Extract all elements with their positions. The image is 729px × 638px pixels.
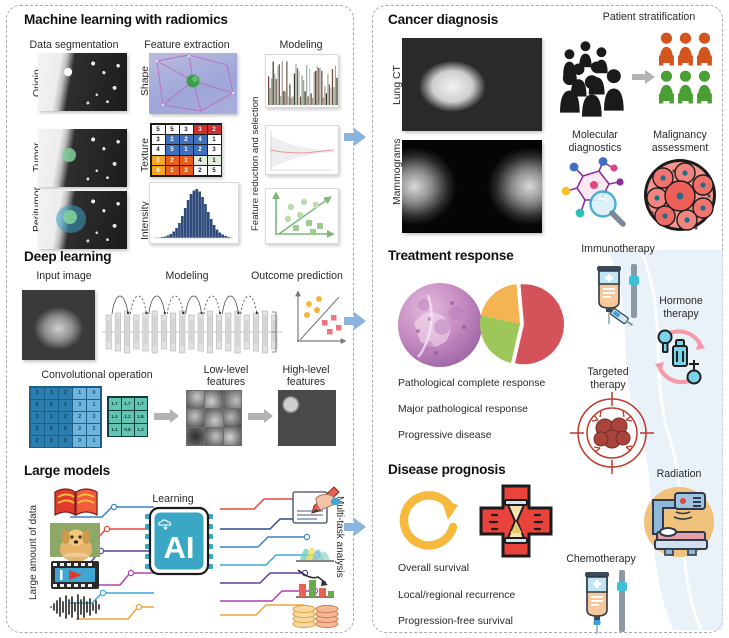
conv-kernel-cell: 1.7 — [122, 398, 134, 410]
hormone-therapy-icon — [643, 320, 717, 392]
texture-cell: 4 — [194, 156, 207, 165]
texture-cell: 4 — [194, 135, 207, 144]
conv-input-cell: 1 — [59, 400, 72, 411]
texture-cell: 3 — [180, 166, 193, 175]
segmentation-image-peritumor — [38, 191, 127, 249]
segmentation-image-origin — [38, 53, 127, 111]
conv-input-cell: 3 — [87, 412, 100, 423]
figure-canvas: Machine learning with radiomics Data seg… — [0, 0, 729, 638]
modeling-plot-feature-values — [265, 54, 339, 108]
conv-kernel-cell: 1.0 — [109, 411, 121, 423]
conv-input-cell: 0 — [45, 436, 58, 447]
conv-input-cell: 3 — [45, 388, 58, 399]
conv-kernel-cell: 1.8 — [135, 411, 147, 423]
conv-input-cell: 0 — [59, 436, 72, 447]
section-title-large-models: Large models — [24, 463, 110, 478]
texture-cell: 5 — [152, 125, 165, 134]
book-icon — [50, 484, 102, 520]
conv-input-cell: 2 — [73, 424, 86, 435]
label-hormone-therapy-line1: Hormone — [648, 295, 714, 307]
label-radiation: Radiation — [638, 468, 720, 480]
texture-cell: 2 — [166, 156, 179, 165]
chemotherapy-icon — [575, 570, 637, 636]
conv-kernel-cell: 1.1 — [109, 424, 121, 436]
label-hormone-therapy-line2: therapy — [648, 308, 714, 320]
conv-input-cell: 2 — [31, 436, 44, 447]
malignancy-assessment-icon — [641, 158, 719, 232]
patient-stratification-figure — [560, 30, 718, 120]
label-high-level-features-line1: High-level — [268, 364, 344, 376]
treatment-item-0: Pathological complete response — [398, 378, 545, 389]
label-malignancy-assessment-line1: Malignancy — [638, 129, 722, 141]
ai-chip: AI — [143, 502, 215, 580]
prognosis-hourglass-icon — [477, 482, 555, 560]
molecular-diagnostics-icon — [557, 158, 633, 230]
texture-cell: 3 — [152, 135, 165, 144]
conv-kernel-cell: 1.2 — [122, 411, 134, 423]
conv-kernel-cell: 1.7 — [109, 398, 121, 410]
texture-cell: 2 — [194, 166, 207, 175]
conv-input-cell: 3 — [73, 400, 86, 411]
conv-input-cell: 0 — [45, 424, 58, 435]
pathology-slide-image — [398, 283, 482, 367]
conv-input-cell: 2 — [59, 412, 72, 423]
conv-input-cell: 1 — [87, 436, 100, 447]
svg-text:AI: AI — [164, 530, 195, 565]
texture-cell: 2 — [194, 145, 207, 154]
label-patient-stratification: Patient stratification — [585, 11, 713, 23]
arrow-lowlevel-to-highlevel — [248, 409, 274, 424]
conv-kernel-cell: 1.3 — [135, 424, 147, 436]
column-title-input-image: Input image — [20, 270, 108, 282]
texture-cell: 2 — [208, 125, 221, 134]
texture-cell: 1 — [208, 135, 221, 144]
conv-kernel-cell: 1.7 — [135, 398, 147, 410]
conv-input-cell: 3 — [31, 388, 44, 399]
conv-input-cell: 1 — [45, 412, 58, 423]
report-writing-icon — [290, 484, 342, 526]
label-immunotherapy: Immunotherapy — [563, 243, 673, 255]
column-title-outcome-prediction: Outcome prediction — [245, 270, 349, 282]
texture-cell: 4 — [152, 145, 165, 154]
conv-input-cell: 0 — [87, 388, 100, 399]
column-title-dl-modeling: Modeling — [152, 270, 222, 282]
connector-arrow-treatment — [344, 312, 366, 330]
intensity-histogram-plot — [149, 182, 239, 244]
coins-stack-icon — [291, 601, 341, 631]
texture-cell: 1 — [166, 166, 179, 175]
convolution-kernel-matrix: 1.71.71.71.01.21.81.10.81.3 — [107, 396, 148, 437]
connector-arrow-diagnosis — [344, 128, 366, 146]
label-molecular-diagnostics-line2: diagnostics — [552, 142, 638, 154]
label-low-level-features-line2: features — [190, 376, 262, 388]
section-title-disease-prognosis: Disease prognosis — [388, 462, 505, 477]
modeling-plot-regularization-path — [265, 125, 339, 175]
label-targeted-therapy-line1: Targeted — [577, 366, 639, 378]
conv-input-cell: 2 — [87, 424, 100, 435]
texture-cell: 4 — [152, 166, 165, 175]
radiation-therapy-icon — [641, 484, 717, 560]
prognosis-item-1: Local/regional recurrence — [398, 590, 515, 601]
texture-cell: 3 — [194, 125, 207, 134]
treatment-item-2: Progressive disease — [398, 430, 492, 441]
conv-input-cell: 2 — [31, 424, 44, 435]
texture-cell: 1 — [180, 156, 193, 165]
feature-reduction-label: Feature reduction and selection — [250, 97, 261, 231]
conv-input-cell: 0 — [45, 400, 58, 411]
survival-loop-icon — [398, 487, 466, 555]
conv-input-cell: 2 — [59, 388, 72, 399]
label-convolutional-operation: Convolutional operation — [22, 369, 172, 381]
convolution-input-matrix: 3321000131312232002220001 — [29, 386, 102, 448]
low-level-feature-maps — [186, 390, 242, 446]
prognosis-item-2: Progression-free survival — [398, 616, 513, 627]
texture-cell: 3 — [152, 156, 165, 165]
label-chemotherapy: Chemotherapy — [553, 553, 649, 565]
shape-feature-image — [149, 53, 237, 114]
texture-cell: 2 — [180, 135, 193, 144]
conv-input-cell: 0 — [31, 400, 44, 411]
conv-input-cell: 0 — [59, 424, 72, 435]
texture-cell: 3 — [208, 145, 221, 154]
section-title-deep-learning: Deep learning — [24, 249, 111, 264]
column-title-data-segmentation: Data segmentation — [21, 39, 127, 51]
section-title-cancer-diagnosis: Cancer diagnosis — [388, 12, 498, 27]
label-targeted-therapy-line2: therapy — [577, 379, 639, 391]
treatment-item-1: Major pathological response — [398, 404, 528, 415]
column-title-feature-extraction: Feature extraction — [133, 39, 241, 51]
texture-cell: 1 — [208, 156, 221, 165]
connector-arrow-prognosis — [344, 518, 366, 536]
label-low-level-features-line1: Low-level — [190, 364, 262, 376]
texture-cell: 5 — [166, 125, 179, 134]
outcome-prediction-scatter — [289, 288, 347, 350]
audio-waveform-icon — [48, 594, 103, 620]
label-malignancy-assessment-line2: assessment — [638, 142, 722, 154]
cnn-architecture-diagram — [100, 282, 285, 364]
curve-plot-icon — [292, 534, 338, 564]
section-title-treatment-response: Treatment response — [388, 248, 514, 263]
conv-input-cell: 1 — [73, 388, 86, 399]
lung-ct-image — [402, 38, 542, 131]
targeted-therapy-icon — [570, 392, 654, 474]
texture-feature-matrix: 5533232241451233214141325 — [150, 123, 222, 177]
bar-chart-trend-icon — [292, 566, 338, 600]
high-level-feature-map — [278, 390, 336, 446]
prognosis-item-0: Overall survival — [398, 563, 469, 574]
texture-cell: 3 — [180, 125, 193, 134]
column-title-modeling: Modeling — [258, 39, 344, 51]
conv-input-cell: 2 — [73, 412, 86, 423]
treatment-response-pie-chart — [477, 281, 563, 367]
video-icon — [50, 560, 100, 590]
section-title-ml-radiomics: Machine learning with radiomics — [24, 12, 228, 27]
conv-input-cell: 3 — [31, 412, 44, 423]
modeling-plot-classifier — [265, 188, 339, 244]
conv-kernel-cell: 0.8 — [122, 424, 134, 436]
mammogram-images — [402, 140, 542, 233]
label-molecular-diagnostics-line1: Molecular — [552, 129, 638, 141]
texture-cell: 2 — [166, 135, 179, 144]
texture-cell: 1 — [180, 145, 193, 154]
photo-dog-icon — [50, 523, 100, 557]
conv-input-cell: 0 — [73, 436, 86, 447]
texture-cell: 5 — [208, 166, 221, 175]
texture-cell: 5 — [166, 145, 179, 154]
arrow-kernel-to-lowlevel — [154, 409, 180, 424]
conv-input-cell: 1 — [87, 400, 100, 411]
label-high-level-features-line2: features — [268, 376, 344, 388]
segmentation-image-tumor — [38, 129, 127, 187]
input-image-abdominal-ct — [22, 290, 95, 360]
